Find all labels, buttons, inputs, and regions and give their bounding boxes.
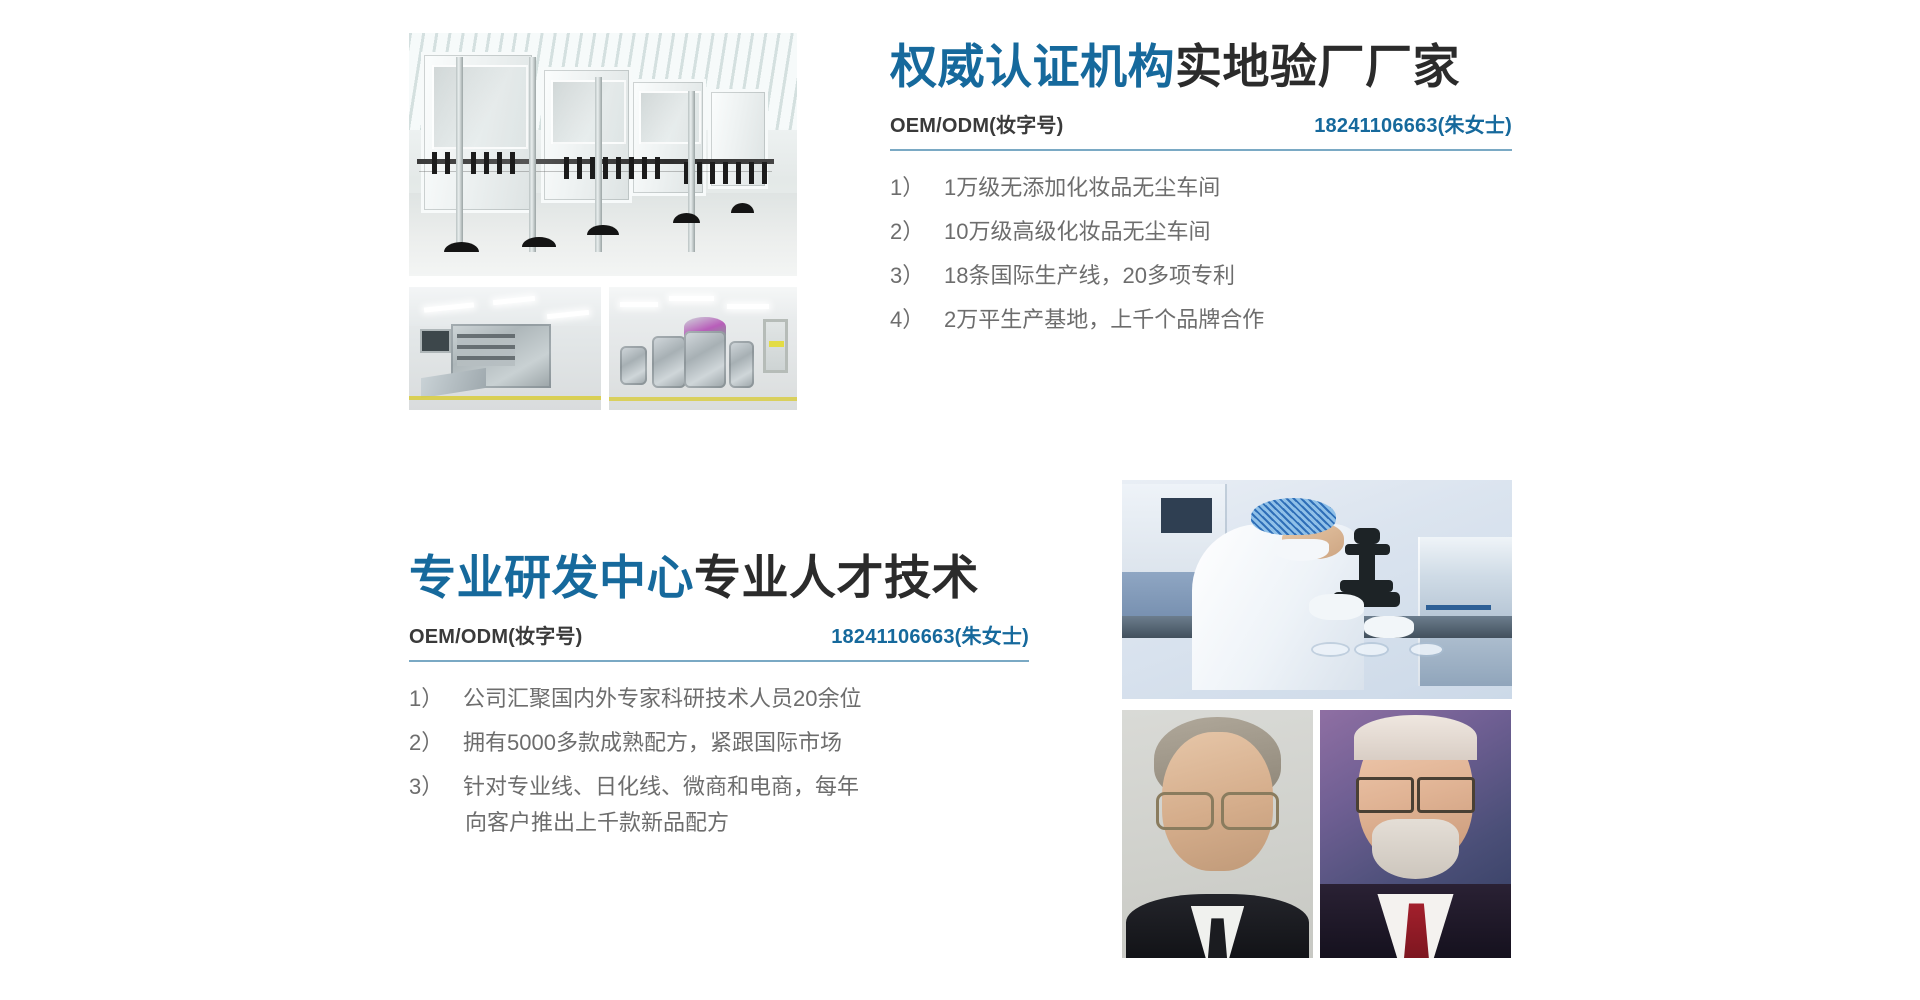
support-post bbox=[529, 57, 536, 251]
list-item: 2） 10万级高级化妆品无尘车间 bbox=[890, 221, 1512, 243]
list-item-number: 2） bbox=[409, 732, 463, 754]
eyeglasses bbox=[1356, 777, 1474, 807]
list-item: 1） 公司汇聚国内外专家科研技术人员20余位 bbox=[409, 688, 1029, 710]
petri-dish bbox=[1356, 644, 1387, 655]
list-item-line-2: 向客户推出上千款新品配方 bbox=[463, 812, 859, 834]
ceiling-light bbox=[620, 302, 658, 307]
eyeglasses bbox=[1156, 792, 1278, 824]
list-item-label: 1万级无添加化妆品无尘车间 bbox=[944, 177, 1220, 199]
heading-highlight: 权威认证机构 bbox=[890, 40, 1175, 93]
certification-bullet-list: 1） 1万级无添加化妆品无尘车间 2） 10万级高级化妆品无尘车间 3） 18条… bbox=[890, 177, 1512, 331]
door-sign bbox=[769, 341, 784, 347]
instrument-screen bbox=[1161, 498, 1212, 533]
list-item-number: 2） bbox=[890, 221, 944, 243]
machine-unit bbox=[541, 67, 632, 203]
list-item-number: 4） bbox=[890, 309, 944, 331]
mixer-tank bbox=[652, 336, 686, 388]
hair bbox=[1354, 715, 1476, 760]
divider-rule bbox=[890, 149, 1512, 151]
rnd-center-text-block: 专业研发中心专业人才技术 OEM/ODM(妆字号) 18241106663(朱女… bbox=[409, 553, 1029, 856]
rnd-center-heading: 专业研发中心专业人才技术 bbox=[409, 553, 1029, 604]
heading-rest: 实地验厂厂家 bbox=[1175, 40, 1460, 93]
beard bbox=[1372, 819, 1460, 879]
gloved-hand bbox=[1364, 616, 1415, 638]
lab-microscope-photo bbox=[1122, 480, 1512, 699]
lab-instrument bbox=[1418, 537, 1512, 686]
cleanroom-machine-photo bbox=[409, 287, 601, 410]
list-item: 3） 18条国际生产线，20多项专利 bbox=[890, 265, 1512, 287]
list-item-line-1: 针对专业线、日化线、微商和电商，每年 bbox=[463, 774, 859, 799]
list-item: 1） 1万级无添加化妆品无尘车间 bbox=[890, 177, 1512, 199]
heading-highlight: 专业研发中心 bbox=[409, 551, 694, 604]
list-item-label: 18条国际生产线，20多项专利 bbox=[944, 265, 1235, 287]
factory-filling-line-photo bbox=[409, 33, 797, 276]
machine-glass-panel bbox=[551, 80, 627, 144]
list-item-label: 10万级高级化妆品无尘车间 bbox=[944, 221, 1210, 243]
contact-phone[interactable]: 18241106663(朱女士) bbox=[1314, 109, 1512, 138]
list-item-label: 2万平生产基地，上千个品牌合作 bbox=[944, 309, 1264, 331]
cleanroom-mixers-photo bbox=[609, 287, 797, 410]
list-item-number: 1） bbox=[409, 688, 463, 710]
rnd-center-bullet-list: 1） 公司汇聚国内外专家科研技术人员20余位 2） 拥有5000多款成熟配方，紧… bbox=[409, 688, 1029, 834]
list-item: 4） 2万平生产基地，上千个品牌合作 bbox=[890, 309, 1512, 331]
machine-unit bbox=[421, 52, 536, 212]
support-post bbox=[688, 91, 695, 251]
mixer-tank bbox=[729, 341, 753, 388]
certification-heading: 权威认证机构实地验厂厂家 bbox=[890, 42, 1512, 93]
list-item: 3） 针对专业线、日化线、微商和电商，每年 向客户推出上千款新品配方 bbox=[409, 776, 1029, 834]
list-item-number: 1） bbox=[890, 177, 944, 199]
expert-portrait-right-photo bbox=[1320, 710, 1511, 958]
filling-nozzles bbox=[432, 152, 517, 174]
support-post bbox=[456, 57, 463, 251]
ceiling-light bbox=[727, 304, 768, 309]
mixer-tank bbox=[620, 346, 646, 385]
filling-nozzles bbox=[684, 162, 769, 184]
ceiling-light bbox=[669, 296, 714, 301]
oem-odm-label: OEM/ODM(妆字号) bbox=[890, 109, 1064, 138]
machine-glass-panel bbox=[432, 65, 527, 149]
contact-phone[interactable]: 18241106663(朱女士) bbox=[831, 620, 1029, 649]
wall-monitor bbox=[422, 331, 449, 351]
certification-text-block: 权威认证机构实地验厂厂家 OEM/ODM(妆字号) 18241106663(朱女… bbox=[890, 42, 1512, 353]
list-item-number: 3） bbox=[890, 265, 944, 287]
list-item: 2） 拥有5000多款成熟配方，紧跟国际市场 bbox=[409, 732, 1029, 754]
face-mask bbox=[1274, 539, 1329, 561]
list-item-label: 拥有5000多款成熟配方，紧跟国际市场 bbox=[463, 732, 842, 754]
rnd-center-subrow: OEM/ODM(妆字号) 18241106663(朱女士) bbox=[409, 620, 1029, 649]
filling-nozzles bbox=[564, 157, 665, 179]
floor-marking-stripe bbox=[409, 396, 601, 400]
list-item-label: 针对专业线、日化线、微商和电商，每年 向客户推出上千款新品配方 bbox=[463, 776, 859, 834]
list-item-number: 3） bbox=[409, 776, 463, 834]
certification-subrow: OEM/ODM(妆字号) 18241106663(朱女士) bbox=[890, 109, 1512, 138]
gloved-hand bbox=[1309, 594, 1364, 620]
oem-odm-label: OEM/ODM(妆字号) bbox=[409, 620, 583, 649]
floor-marking-stripe bbox=[609, 397, 797, 401]
list-item-label: 公司汇聚国内外专家科研技术人员20余位 bbox=[463, 688, 861, 710]
conveyor-belt bbox=[421, 368, 486, 398]
heading-rest: 专业人才技术 bbox=[694, 551, 979, 604]
mixer-tank bbox=[684, 331, 725, 388]
divider-rule bbox=[409, 660, 1029, 662]
hair-net-cap bbox=[1251, 498, 1337, 535]
expert-portrait-left-photo bbox=[1122, 710, 1313, 958]
